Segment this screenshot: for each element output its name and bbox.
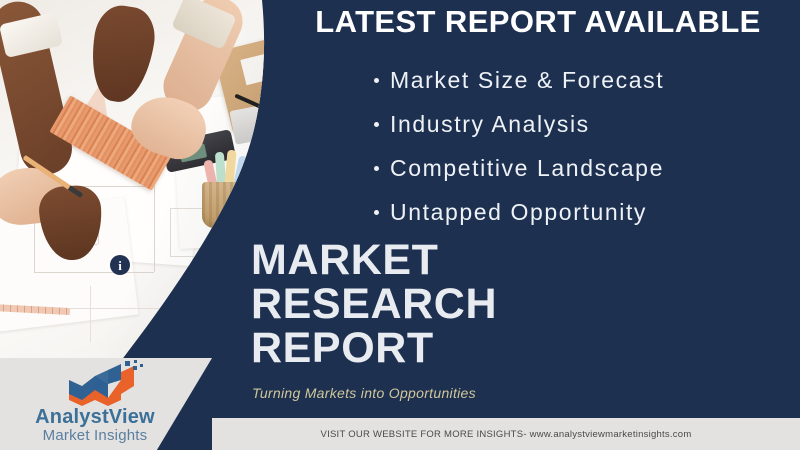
bullet-dot-icon [374, 210, 379, 215]
report-title-line: REPORT [251, 326, 497, 370]
report-title: MARKET RESEARCH REPORT [251, 238, 497, 370]
list-item-label: Market Size & Forecast [390, 67, 664, 94]
photo-chalk [241, 163, 257, 190]
report-title-line: MARKET [251, 238, 497, 282]
info-icon[interactable]: i [110, 255, 130, 275]
list-item: Market Size & Forecast [374, 58, 774, 102]
list-item: Untapped Opportunity [374, 190, 774, 234]
bullet-dot-icon [374, 122, 379, 127]
list-item-label: Competitive Landscape [390, 155, 664, 182]
footer-website-text[interactable]: VISIT OUR WEBSITE FOR MORE INSIGHTS- www… [212, 418, 800, 450]
page-title: LATEST REPORT AVAILABLE [290, 4, 786, 40]
report-title-line: RESEARCH [251, 282, 497, 326]
promo-banner: i LATEST REPORT AVAILABLE Market Size & … [0, 0, 800, 450]
logo-subtitle: Market Insights [0, 427, 190, 444]
logo-name: AnalystView [0, 406, 190, 429]
photo-marker [252, 139, 272, 179]
bullet-dot-icon [374, 166, 379, 171]
bar-chart-arrow-icon [55, 360, 155, 406]
feature-list: Market Size & Forecast Industry Analysis… [374, 58, 774, 234]
tagline: Turning Markets into Opportunities [252, 385, 476, 401]
bullet-dot-icon [374, 78, 379, 83]
list-item-label: Industry Analysis [390, 111, 590, 138]
list-item: Competitive Landscape [374, 146, 774, 190]
list-item-label: Untapped Opportunity [390, 199, 647, 226]
list-item: Industry Analysis [374, 102, 774, 146]
